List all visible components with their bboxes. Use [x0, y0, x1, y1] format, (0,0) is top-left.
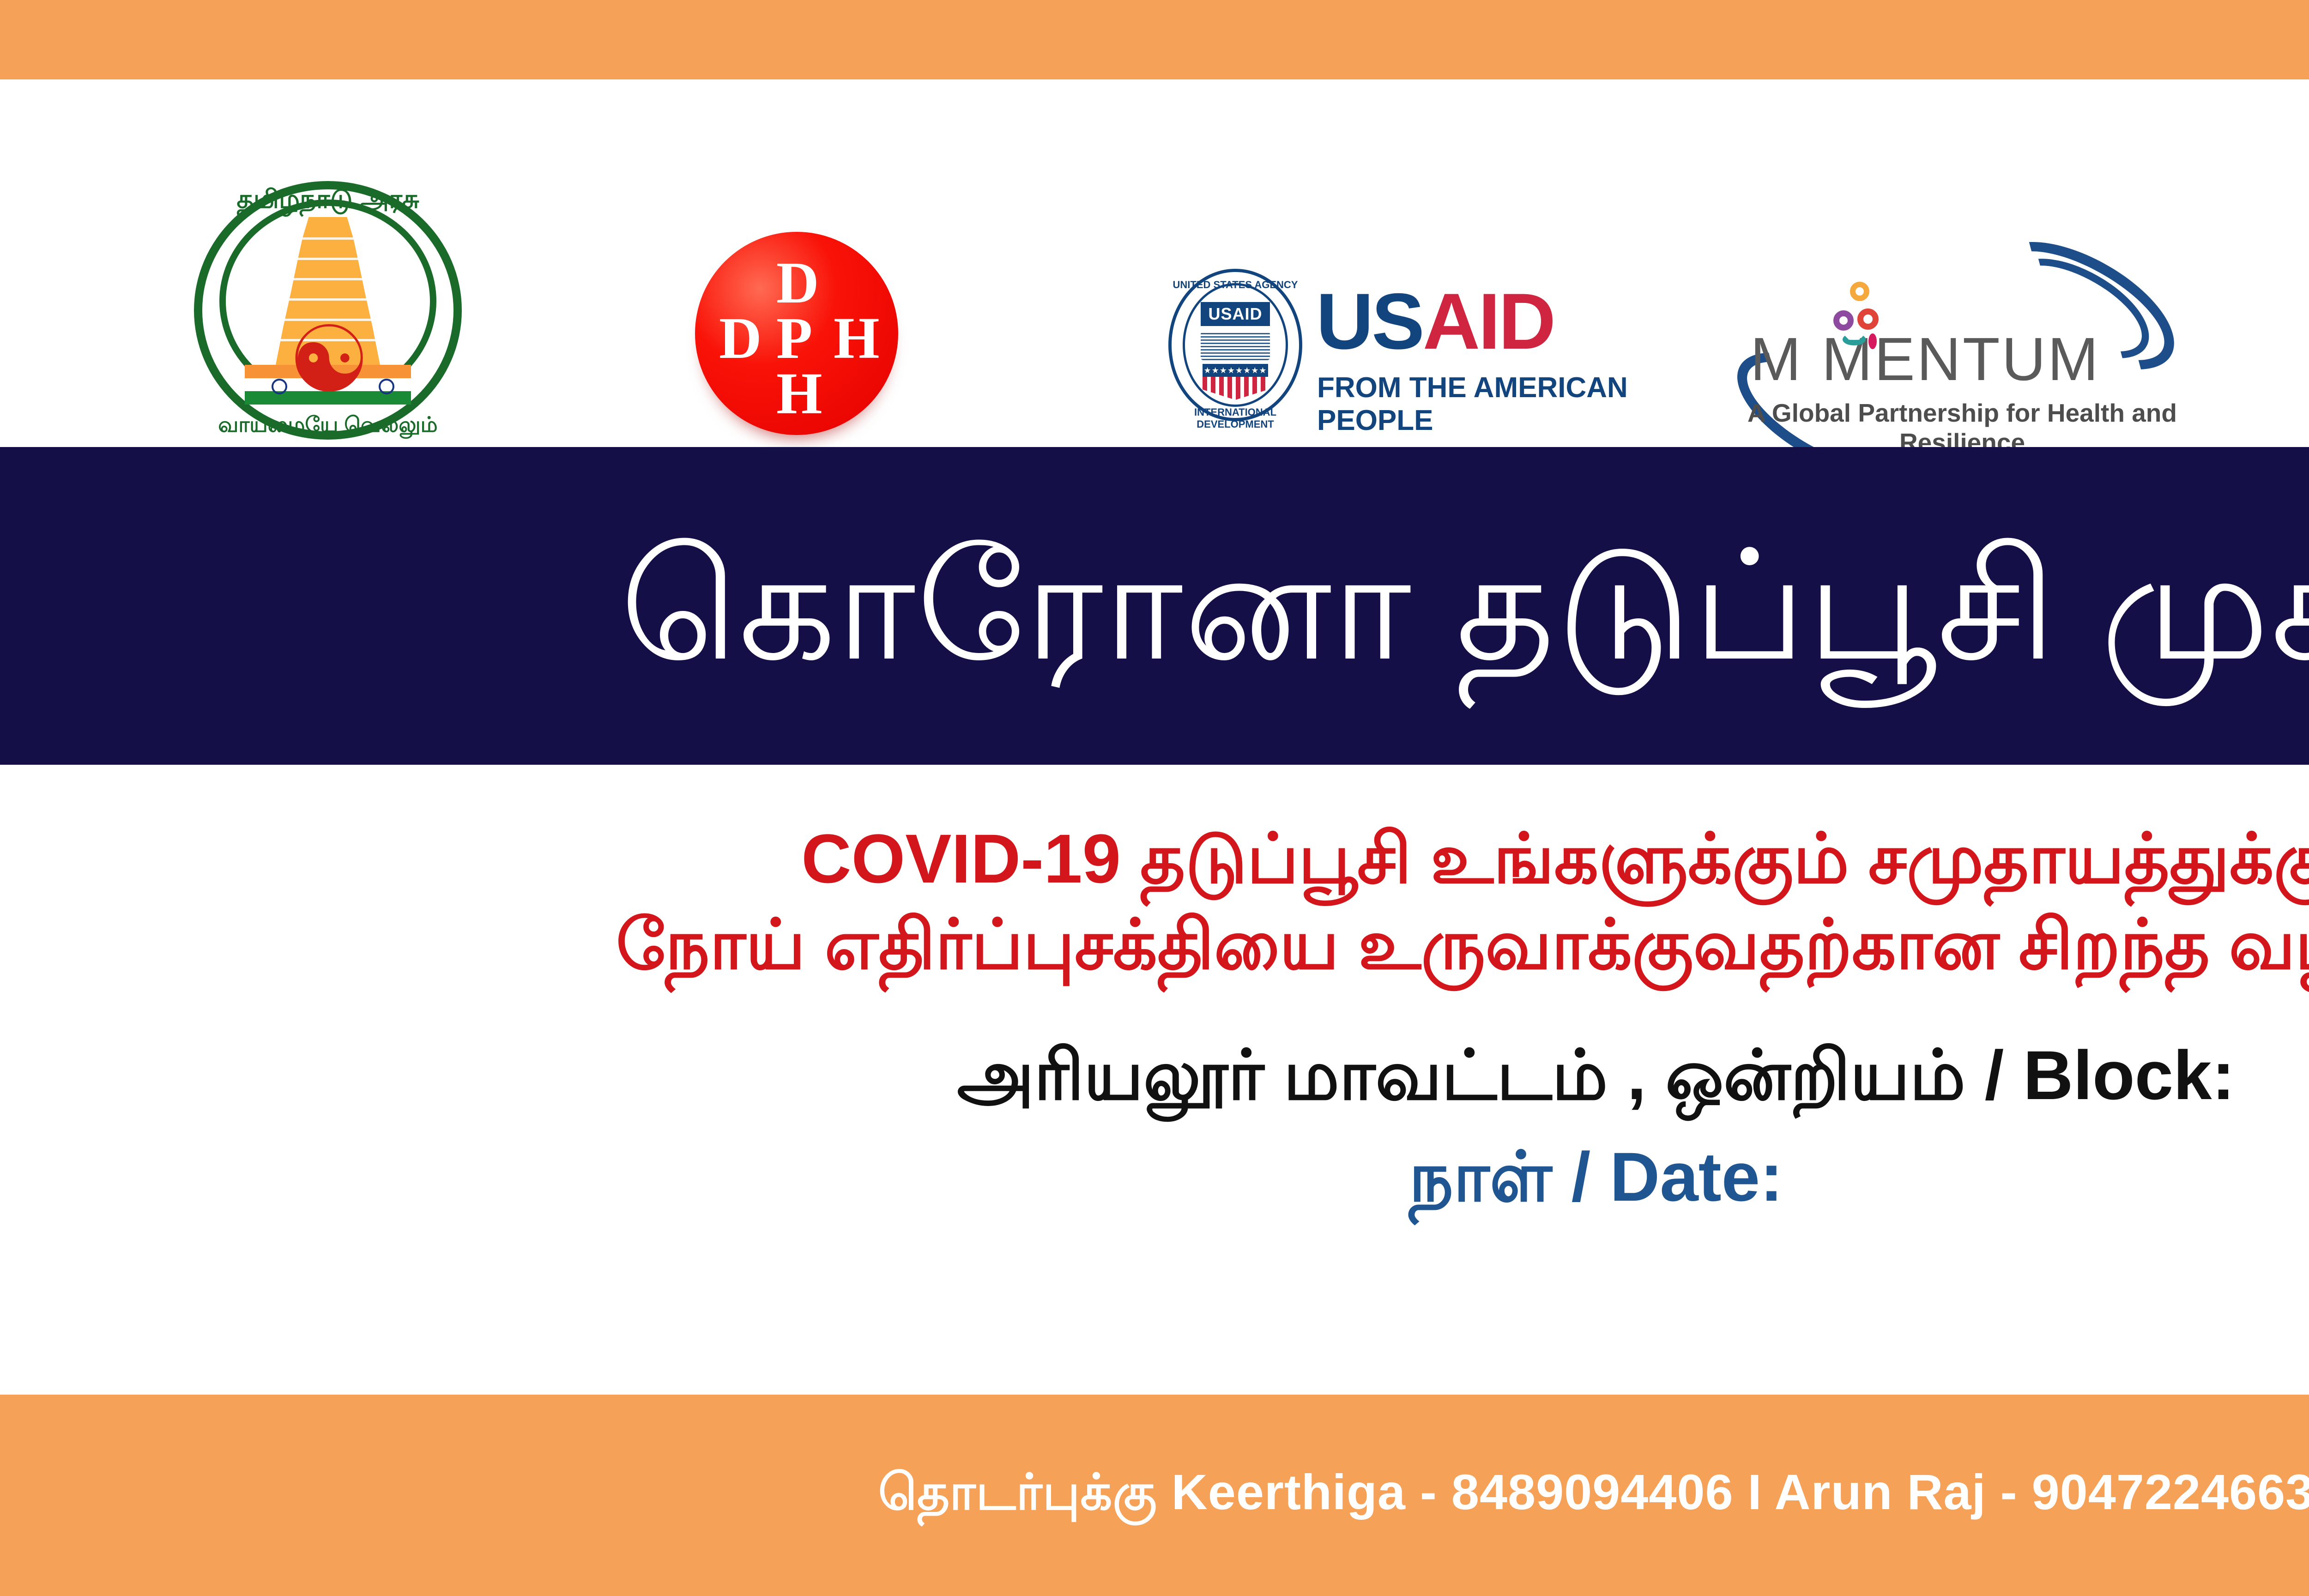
- momentum-people-icon: [1833, 282, 1889, 346]
- dph-letter-p: P: [776, 308, 812, 368]
- momentum-logo: M MENTUM A Global Partnership for Health…: [1723, 260, 2198, 453]
- usaid-tagline: FROM THE AMERICAN PEOPLE: [1317, 371, 1658, 437]
- dph-red-sphere: D D P H H: [695, 232, 898, 435]
- message-line-2: நோய் எதிர்ப்புசக்தியை உருவாக்குவதற்கான ச…: [0, 901, 2309, 987]
- usaid-seal-text-bottom: INTERNATIONAL DEVELOPMENT: [1168, 406, 1302, 430]
- lion-capital-icon: ☯: [288, 314, 369, 416]
- ashoka-chakra-icon-left: [272, 379, 287, 394]
- top-accent-bar: [0, 0, 2309, 79]
- dph-letter-h-right: H: [834, 308, 880, 368]
- dph-letter-d-left: D: [719, 308, 762, 368]
- district-block-field: அரியலூர் மாவட்டம் , ஒன்றியம் / Block:: [0, 987, 2309, 1112]
- usaid-wordmark: USAID: [1316, 282, 1554, 361]
- dph-letter-h-bottom: H: [776, 364, 822, 423]
- body-content: COVID-19 தடுப்பூசி உங்களுக்கும் சமுதாயத்…: [0, 765, 2309, 1395]
- emblem-text-bottom: வாய்மையே வெல்லும்: [175, 412, 480, 440]
- usaid-logo: UNITED STATES AGENCY INTERNATIONAL DEVEL…: [1168, 273, 1658, 426]
- title-banner: கொரோனா தடுப்பூசி முகாம்: [0, 447, 2309, 765]
- momentum-wordmark: M MENTUM: [1750, 329, 2100, 390]
- contact-bar: தொடர்புக்கு Keerthiga - 8489094406 I Aru…: [0, 1395, 2309, 1596]
- usaid-wordmark-aid: AID: [1423, 277, 1554, 366]
- dph-logo: D D P H H: [695, 232, 907, 444]
- tamil-nadu-government-emblem: ☯ தமிழ்நாடு அரசு வாய்மையே வெல்லும்: [175, 181, 480, 440]
- page-title: கொரோனா தடுப்பூசி முகாம்: [620, 530, 2309, 682]
- dph-letter-d-top: D: [776, 253, 819, 312]
- contact-text: தொடர்புக்கு Keerthiga - 8489094406 I Aru…: [878, 1463, 2309, 1528]
- shield-stars: ★★★★★★★★: [1203, 364, 1268, 377]
- handshake-icon: [1201, 332, 1270, 360]
- usaid-seal-text-top: UNITED STATES AGENCY: [1168, 279, 1302, 291]
- ashoka-chakra-icon-right: [379, 379, 394, 394]
- date-field: நாள் / Date:: [0, 1112, 2309, 1214]
- shield-stripes: [1203, 377, 1268, 400]
- emblem-text-top: தமிழ்நாடு அரசு: [175, 184, 480, 218]
- stars-stripes-shield-icon: ★★★★★★★★: [1203, 364, 1268, 400]
- logo-strip: ☯ தமிழ்நாடு அரசு வாய்மையே வெல்லும் D D P…: [0, 79, 2309, 447]
- message-line-1: COVID-19 தடுப்பூசி உங்களுக்கும் சமுதாயத்…: [0, 765, 2309, 901]
- usaid-badge: USAID: [1201, 302, 1270, 326]
- usaid-wordmark-us: US: [1316, 277, 1423, 366]
